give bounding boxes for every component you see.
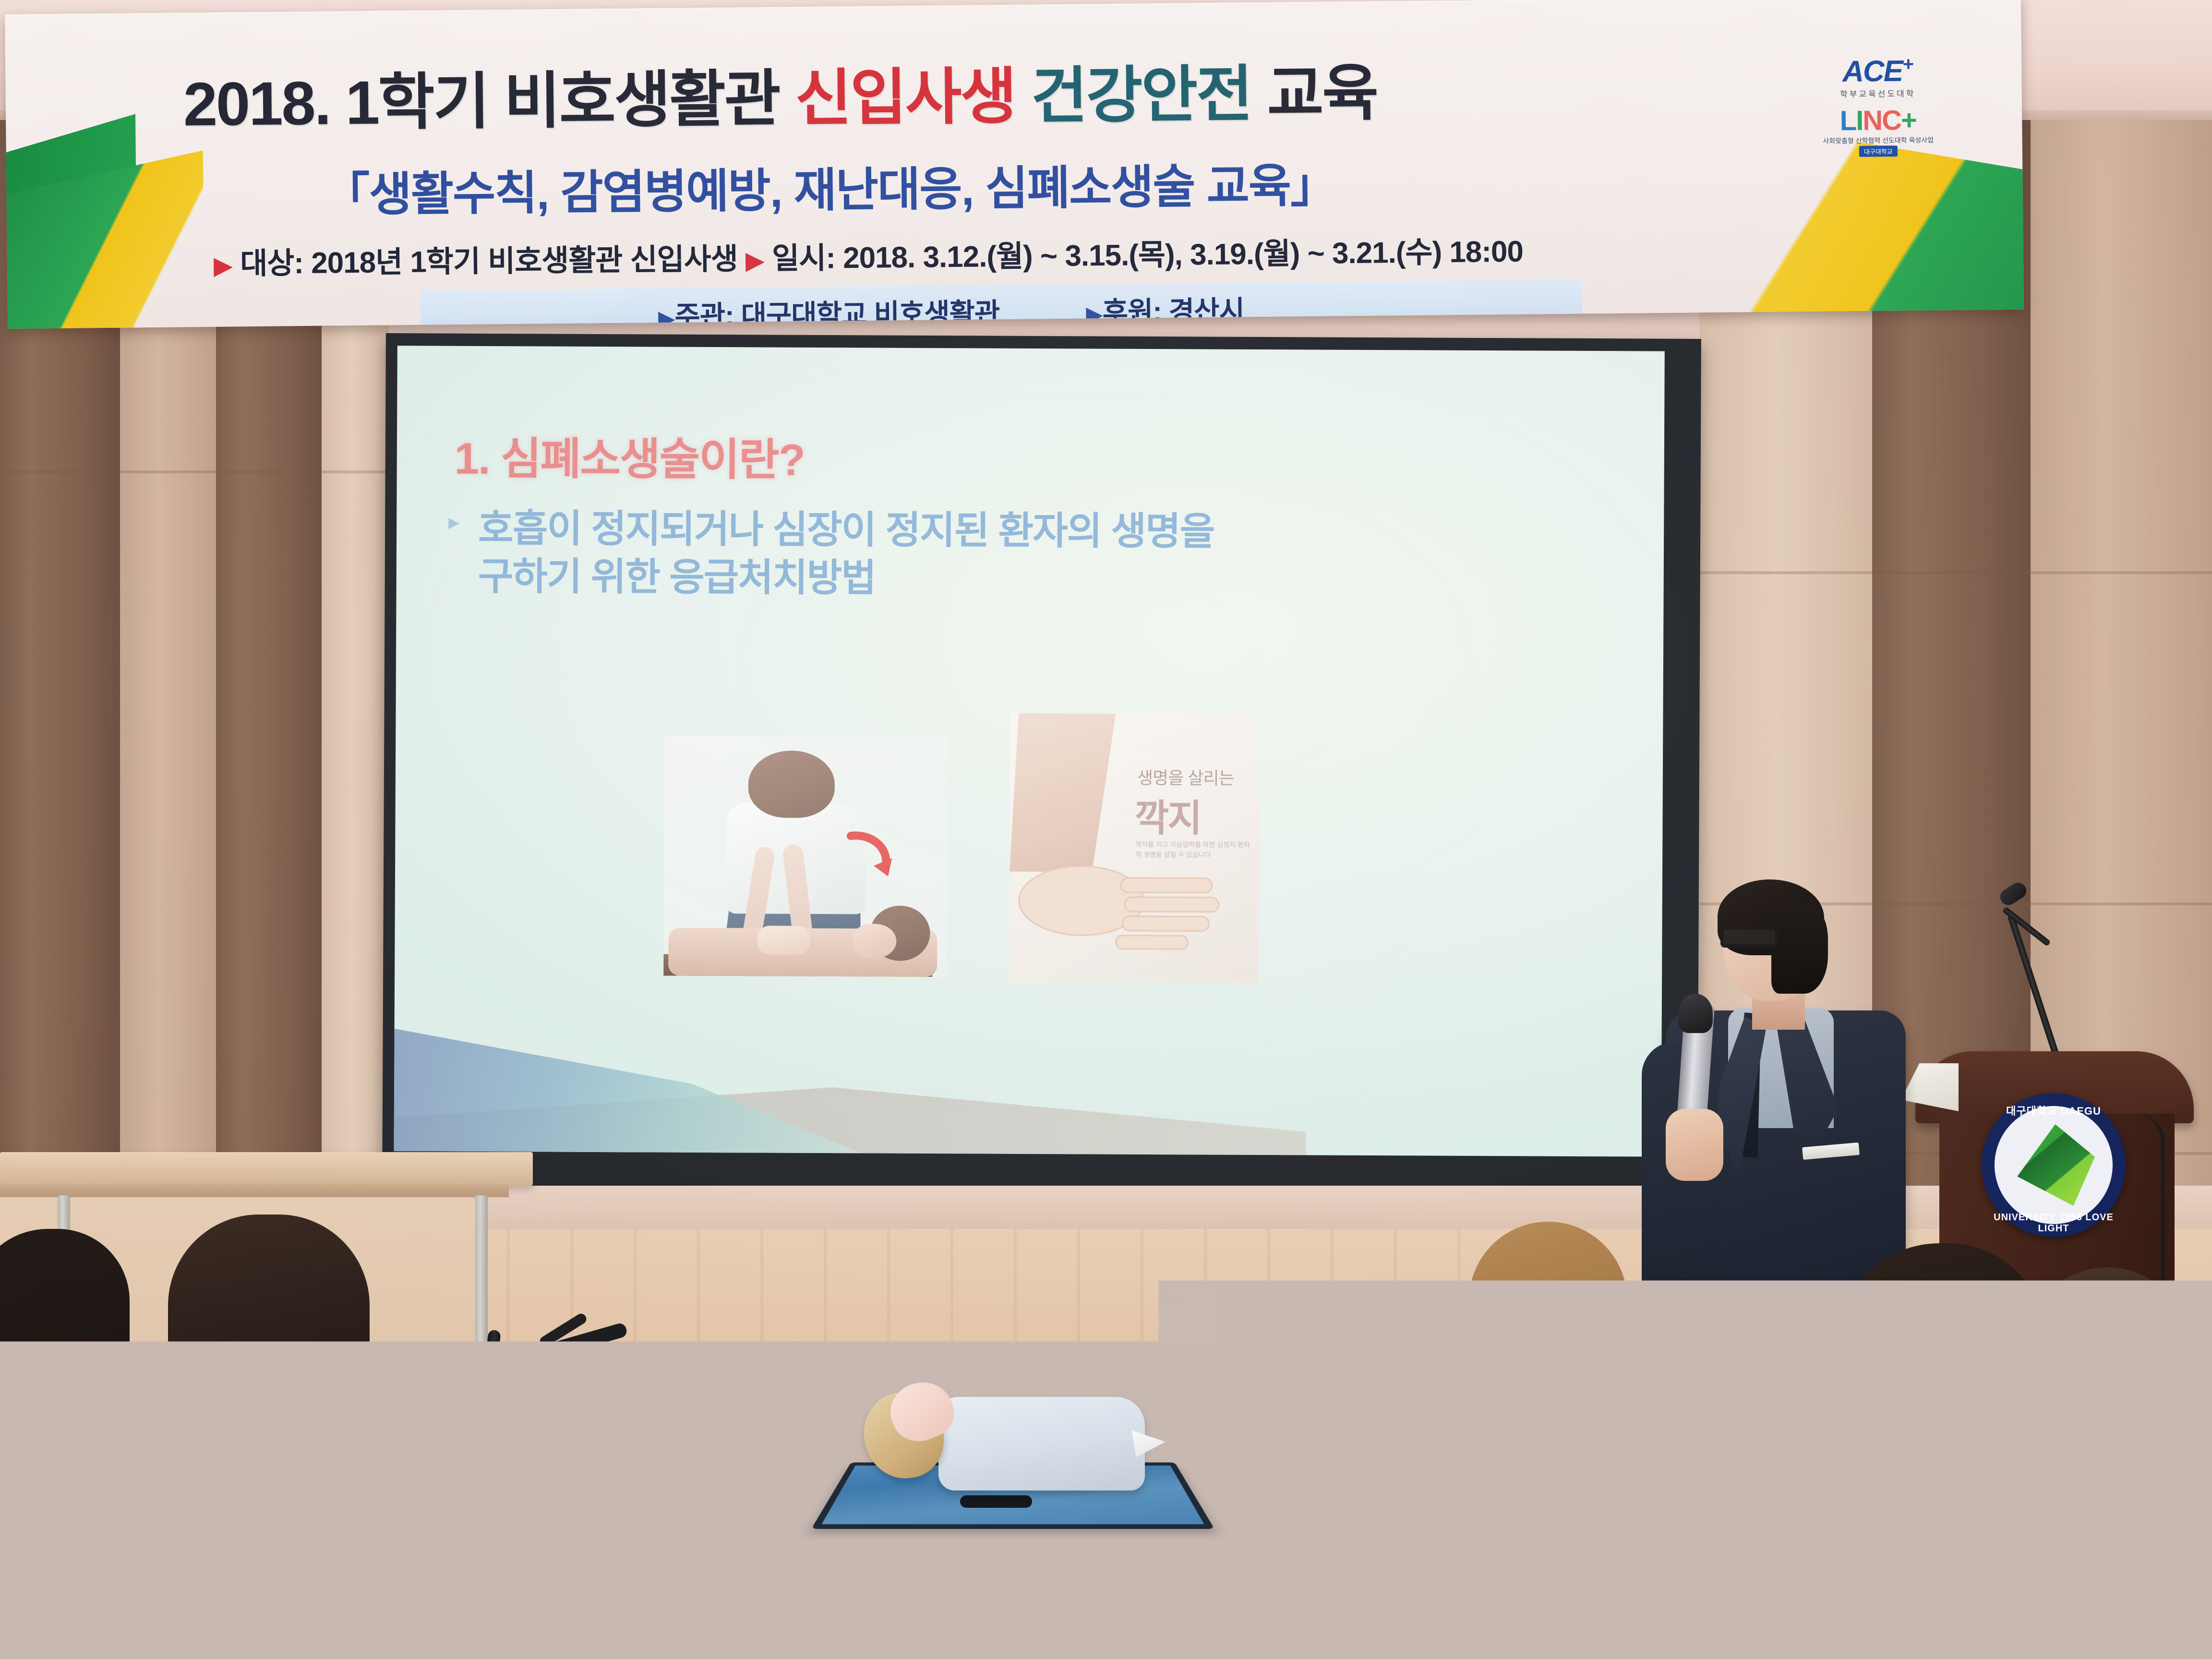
banner-title-part1: 2018. 1학기 비호생활관 bbox=[183, 64, 795, 139]
side-table-apron bbox=[0, 1184, 509, 1197]
linc-letter-n: N bbox=[1863, 105, 1882, 136]
side-table-top bbox=[0, 1152, 533, 1186]
ace-logo: ACE+ bbox=[1805, 55, 1950, 86]
chair-sticker-blue-1 bbox=[336, 1551, 389, 1571]
presenter-leg-split bbox=[1779, 1462, 1786, 1659]
cpr-mat-strap bbox=[960, 1495, 1032, 1508]
slide-cpr-photo bbox=[663, 736, 948, 977]
cpr-victim-face bbox=[853, 924, 896, 958]
banner-title: 2018. 1학기 비호생활관 신입사생 건강안전 교육 bbox=[183, 59, 1825, 136]
cpr-red-arrow-icon bbox=[844, 830, 897, 883]
poster-tagline: 생명을 살리는 bbox=[1137, 764, 1234, 790]
chair-grey-1[interactable] bbox=[182, 1503, 466, 1594]
slide-bullet-block: ▸ 호흡이 정지되거나 심장이 정지된 환자의 생명을 구하기 위한 응급처치방… bbox=[478, 505, 1611, 605]
chair-frame-1 bbox=[178, 1593, 475, 1603]
presenter-hand-left bbox=[1666, 1109, 1723, 1181]
slide-decoration-polygon bbox=[394, 993, 875, 1157]
banner-title-part2: 건강안전 bbox=[1015, 60, 1252, 131]
university-emblem-text-bottom: UNIVERSITY 1956 LOVE LIGHT bbox=[1982, 1212, 2126, 1234]
projection-screen-frame: 1. 심폐소생술이란? ▸ 호흡이 정지되거나 심장이 정지된 환자의 생명을 … bbox=[382, 333, 1701, 1203]
audience-member-6-paper bbox=[1795, 1464, 1839, 1527]
slide-poster-image: 생명을 살리는 깍지 깍지를 끼고 가슴압박을 하면 심정지 환자의 생명을 살… bbox=[1009, 713, 1260, 983]
banner-subtitle: 「생활수칙, 감염병예방, 재난대응, 심폐소생술 교육」 bbox=[323, 144, 1716, 225]
linc-letter-c: C bbox=[1882, 105, 1901, 136]
chair-sticker-yellow-1 bbox=[331, 1532, 384, 1550]
aed-label: AED bbox=[1263, 1451, 1383, 1477]
linc-logo: LINC+ bbox=[1806, 106, 1950, 135]
banner-logo-group: ACE+ 학부교육선도대학 LINC+ 사회맞춤형 산학협력 선도대학 육성사업… bbox=[1805, 55, 1950, 157]
chair-orange-1[interactable] bbox=[0, 1584, 202, 1659]
fire-extinguisher-nozzle bbox=[478, 1486, 492, 1516]
auditorium-photo: 2018. 1학기 비호생활관 신입사생 건강안전 교육 「생활수칙, 감염병예… bbox=[0, 0, 2212, 1659]
poster-caption: 깍지를 끼고 가슴압박을 하면 심정지 환자의 생명을 살릴 수 있습니다 bbox=[1135, 840, 1250, 860]
linc-letter-i: I bbox=[1856, 105, 1863, 136]
banner-title-highlight: 신입사생 bbox=[795, 62, 1016, 133]
aed-sub-label: 자동심장충격기 · 심폐소생술 bbox=[1262, 1475, 1385, 1485]
fire-extinguisher-neck bbox=[553, 1354, 572, 1380]
chair-orange-2[interactable] bbox=[1450, 1584, 1651, 1659]
cpr-compression-hands bbox=[757, 926, 810, 954]
linc-logo-subtitle: 사회맞춤형 산학협력 선도대학 육성사업 bbox=[1806, 136, 1950, 145]
banner-target-label: 대상: 2018년 1학기 비호생활관 신입사생 bbox=[240, 242, 738, 280]
wall-panel-light-2 bbox=[2031, 120, 2212, 1200]
banner-title-part3: 교육 bbox=[1251, 59, 1377, 129]
banner-detail-line: ▶ 대상: 2018년 1학기 비호생활관 신입사생 ▶ 일시: 2018. 3… bbox=[214, 224, 1846, 283]
event-banner: 2018. 1학기 비호생활관 신입사생 건강안전 교육 「생활수칙, 감염병예… bbox=[5, 0, 2024, 329]
poster-interlocked-hands-icon bbox=[1009, 843, 1235, 964]
poster-headline: 깍지 bbox=[1134, 788, 1201, 842]
aed-korean-label: 자동 심장 제세동기 bbox=[1266, 1417, 1381, 1430]
cpr-rescuer-head bbox=[748, 750, 835, 818]
linc-logo-tag: 대구대학교 bbox=[1859, 145, 1898, 157]
fire-extinguisher-base bbox=[532, 1507, 592, 1521]
projection-screen: 1. 심폐소생술이란? ▸ 호흡이 정지되거나 심장이 정지된 환자의 생명을 … bbox=[394, 346, 1665, 1157]
linc-letter-l: L bbox=[1839, 105, 1856, 136]
ace-logo-plus: + bbox=[1902, 54, 1913, 75]
floor-vent-left bbox=[739, 1481, 811, 1503]
chair-orange-3[interactable] bbox=[1863, 1575, 2069, 1659]
university-emblem-text-top: 대구대학교 DAEGU bbox=[1982, 1103, 2126, 1118]
banner-date-label: 일시: 2018. 3.12.(월) ~ 3.15.(목), 3.19.(월) … bbox=[772, 235, 1523, 276]
slide-bullet-line1: 호흡이 정지되거나 심장이 정지된 환자의 생명을 bbox=[478, 505, 1611, 557]
wall-seam-1 bbox=[1699, 571, 2212, 574]
chair-frame-2 bbox=[1863, 1548, 2088, 1558]
cpr-manikin-torso bbox=[938, 1397, 1145, 1491]
presenter-glasses-icon bbox=[1720, 926, 1778, 948]
presenter-hair-side bbox=[1771, 902, 1828, 994]
slide-title: 1. 심폐소생술이란? bbox=[455, 423, 805, 488]
banner-marker-date-icon: ▶ bbox=[745, 247, 765, 275]
slide-bullet-line2: 구하기 위한 응급처치방법 bbox=[478, 553, 1611, 605]
fire-extinguisher-label-text: 소화기 ABC 분말 bbox=[530, 1420, 593, 1431]
aed-side-pocket bbox=[1327, 1358, 1361, 1394]
bullet-arrow-icon: ▸ bbox=[448, 508, 458, 536]
wall-seam-4 bbox=[0, 470, 389, 473]
presenter-microphone-head-icon bbox=[1678, 994, 1713, 1033]
ace-logo-subtitle: 학부교육선도대학 bbox=[1806, 86, 1950, 100]
audience-member-8-hair bbox=[2112, 1459, 2212, 1659]
chair-grey-2[interactable] bbox=[1440, 1469, 1498, 1555]
banner-marker-target-icon: ▶ bbox=[214, 252, 233, 279]
ace-logo-text: ACE bbox=[1842, 55, 1903, 88]
linc-letter-plus: + bbox=[1901, 104, 1916, 135]
chair-grey-3[interactable] bbox=[1867, 1469, 2079, 1551]
